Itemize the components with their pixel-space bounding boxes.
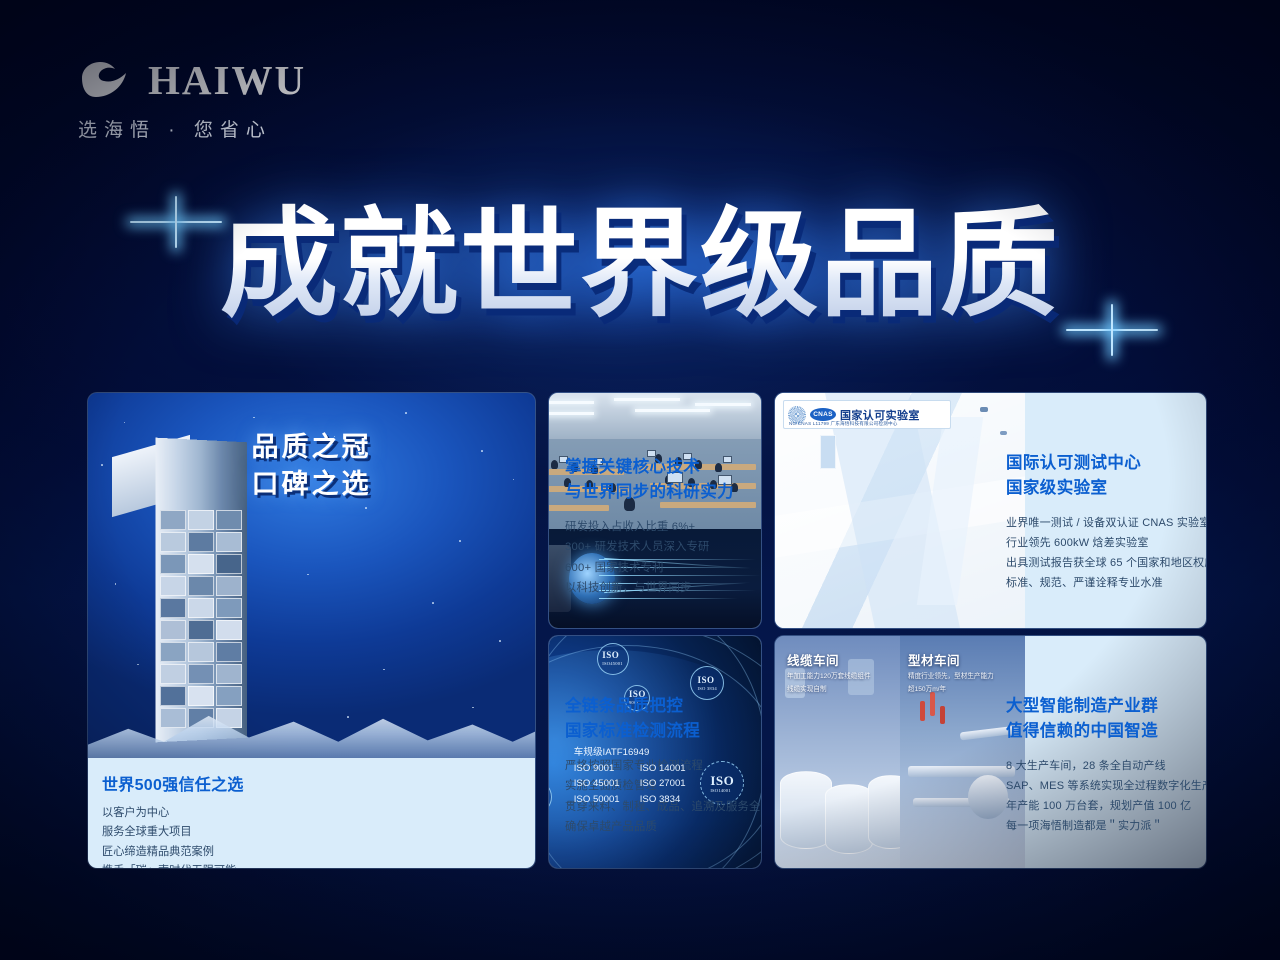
lab-bullet-list: 业界唯一测试 / 设备双认证 CNAS 实验室 行业领先 600kW 焓差实验室… — [1006, 513, 1192, 593]
node-label: ISO 3834 — [697, 686, 716, 691]
manufacturing-text: 大型智能制造产业群 值得信赖的中国智造 8 大生产车间，28 条全自动产线 SA… — [1006, 694, 1192, 836]
wave-leaf-logo-icon — [78, 58, 134, 102]
center-foot-title: 世界500强信任之选 — [102, 771, 521, 795]
list-item: 600+ 国家技术专利 — [565, 558, 734, 579]
lab-text: 国际认可测试中心 国家级实验室 业界唯一测试 / 设备双认证 CNAS 实验室 … — [1006, 451, 1192, 593]
workshop-label-profile: 型材车间 精度行业领先，型材生产能力 超150万m/年 — [908, 650, 994, 695]
mfg-bullet-list: 8 大生产车间，28 条全自动产线 SAP、MES 等系统实现全过程数字化生产管… — [1006, 756, 1192, 836]
card-center-quality-champion[interactable]: 品质之冠 口碑之选 — [88, 393, 535, 868]
card-manufacturing[interactable]: 线缆车间 年加工能力120万套线缆组件 线缆实现自制 型材车间 精度行业领先，型… — [775, 636, 1206, 868]
center-title-line2: 口碑之选 — [88, 466, 535, 503]
center-title-line1: 品质之冠 — [88, 429, 535, 466]
list-item: 以科技创新，与世界同步 — [565, 578, 734, 599]
rnd-text: 掌握关键核心技术 与世界同步的科研实力 研发投入占收入比重 6%+ 300+ 研… — [565, 455, 734, 599]
cnas-badge-number: NO:CNAS L11799 广东海悟科技有限公司检测中心 — [789, 421, 898, 427]
list-item: 行业领先 600kW 焓差实验室 — [1006, 533, 1192, 553]
mfg-title-line2: 值得信赖的中国智造 — [1006, 719, 1192, 744]
list-item: 研发投入占收入比重 6%+ — [565, 517, 734, 538]
lab-title-line1: 国际认可测试中心 — [1006, 451, 1192, 476]
iso-seal-node: ISO ISO45001 — [597, 643, 629, 675]
standard-code: ISO 45001 — [574, 776, 640, 792]
workshop-desc-line1: 年加工能力120万套线缆组件 — [787, 672, 871, 682]
quality-title-line2: 国家标准检测流程 — [565, 719, 761, 744]
center-title: 品质之冠 口碑之选 — [88, 429, 535, 502]
standard-code: ISO 3834 — [640, 792, 706, 808]
headline-block: 成就世界级品质 — [0, 196, 1280, 335]
mfg-title-line1: 大型智能制造产业群 — [1006, 694, 1192, 719]
list-item: 服务全球重大项目 — [102, 823, 521, 842]
workshop-label-cable: 线缆车间 年加工能力120万套线缆组件 线缆实现自制 — [787, 650, 871, 695]
page-title: 成就世界级品质 — [220, 196, 1060, 335]
list-item: 出具测试报告获全球 65 个国家和地区权威认可 — [1006, 553, 1192, 573]
lab-corridor-photo: CNAS 国家认可实验室 NO:CNAS L11799 广东海悟科技有限公司检测… — [775, 393, 1025, 628]
cnas-logo-icon: CNAS — [810, 408, 836, 421]
manufacturing-photos: 线缆车间 年加工能力120万套线缆组件 线缆实现自制 型材车间 精度行业领先，型… — [775, 636, 1025, 868]
list-item: SAP、MES 等系统实现全过程数字化生产管理 — [1006, 776, 1192, 796]
iso-standards-list: 车规级IATF16949 ISO 9001ISO 14001 ISO 45001… — [574, 745, 706, 807]
list-item: 匠心缔造精品典范案例 — [102, 843, 521, 862]
brand-logo-block: HAIWU 选海悟 · 您省心 — [78, 58, 306, 142]
standards-row: ISO 45001ISO 27001 — [574, 776, 706, 792]
list-item: 每一项海悟制造都是＂实力派＂ — [1006, 816, 1192, 836]
card-rnd[interactable]: 掌握关键核心技术 与世界同步的科研实力 研发投入占收入比重 6%+ 300+ 研… — [549, 393, 761, 628]
list-item: 8 大生产车间，28 条全自动产线 — [1006, 756, 1192, 776]
card-lab[interactable]: CNAS 国家认可实验室 NO:CNAS L11799 广东海悟科技有限公司检测… — [775, 393, 1206, 628]
node-code: ISO — [697, 676, 716, 685]
node-label: ISO45001 — [602, 661, 623, 666]
feature-card-grid: 掌握关键核心技术 与世界同步的科研实力 研发投入占收入比重 6%+ 300+ 研… — [88, 393, 1192, 868]
workshop-name: 线缆车间 — [787, 650, 871, 669]
cnas-accreditation-badge: CNAS 国家认可实验室 NO:CNAS L11799 广东海悟科技有限公司检测… — [783, 400, 951, 429]
list-item: 以客户为中心 — [102, 804, 521, 823]
card-quality-chain[interactable]: ISO ISO45001 ISO 9001 ISO ISO 3834 ISO I… — [549, 636, 761, 868]
list-item: 业界唯一测试 / 设备双认证 CNAS 实验室 — [1006, 513, 1192, 533]
list-item: 年产能 100 万台套，规划产值 100 亿 — [1006, 796, 1192, 816]
lab-title-line2: 国家级实验室 — [1006, 476, 1192, 501]
list-item: 300+ 研发技术人员深入专研 — [565, 537, 734, 558]
node-code: ISO — [602, 651, 623, 660]
rnd-title-line2: 与世界同步的科研实力 — [565, 480, 734, 505]
workshop-desc-line1: 精度行业领先，型材生产能力 — [908, 672, 994, 682]
rnd-title-line1: 掌握关键核心技术 — [565, 455, 734, 480]
list-item: 确保卓越产品品质 — [565, 817, 761, 838]
rnd-bullet-list: 研发投入占收入比重 6%+ 300+ 研发技术人员深入专研 600+ 国家技术专… — [565, 517, 734, 599]
quality-title-line1: 全链条品质把控 — [565, 694, 761, 719]
standard-code: ISO 14001 — [640, 761, 706, 777]
brand-wordmark: HAIWU — [148, 60, 306, 101]
list-item: 携手「碳」索时代无限可能 — [102, 862, 521, 868]
center-bullet-list: 以客户为中心 服务全球重大项目 匠心缔造精品典范案例 携手「碳」索时代无限可能 — [102, 804, 521, 868]
brand-slogan: 选海悟 · 您省心 — [78, 115, 306, 142]
workshop-name: 型材车间 — [908, 650, 994, 669]
standard-code: ISO 27001 — [640, 776, 706, 792]
standard-code: ISO 9001 — [574, 761, 640, 777]
standards-row: ISO 9001ISO 14001 — [574, 761, 706, 777]
workshop-desc-line2: 超150万m/年 — [908, 685, 994, 695]
center-footer-text: 世界500强信任之选 以客户为中心 服务全球重大项目 匠心缔造精品典范案例 携手… — [88, 758, 535, 868]
workshop-desc-line2: 线缆实现自制 — [787, 685, 871, 695]
standard-code: ISO 50001 — [574, 792, 640, 808]
standards-row: ISO 50001ISO 3834 — [574, 792, 706, 808]
list-item: 标准、规范、严谨诠释专业水准 — [1006, 573, 1192, 593]
standards-heading: 车规级IATF16949 — [574, 745, 706, 761]
